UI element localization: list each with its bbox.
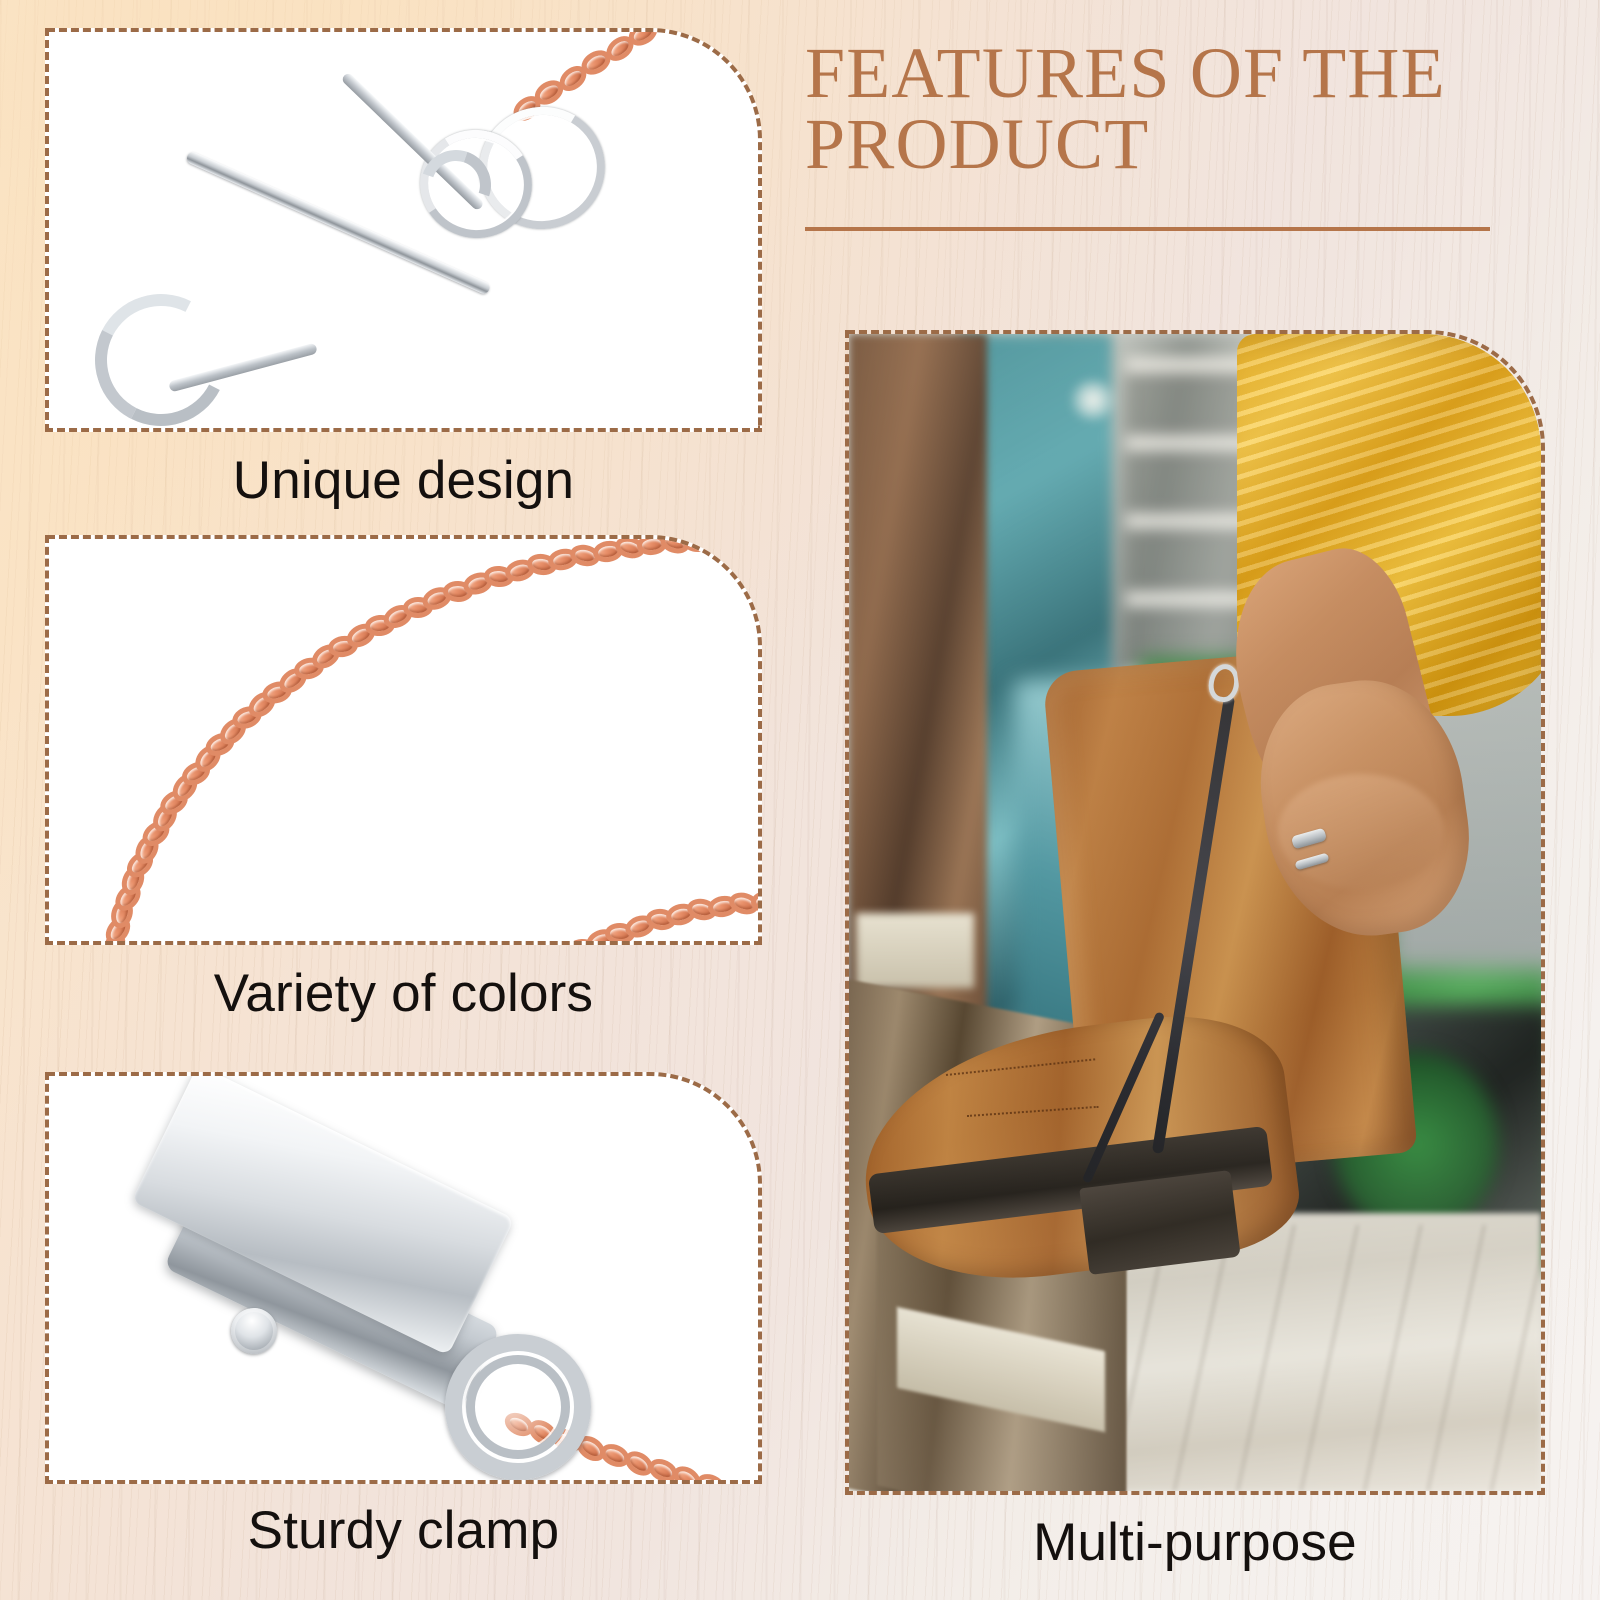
feature-panel-multi-purpose[interactable] xyxy=(845,330,1545,1495)
rose-gold-chain-illustration xyxy=(49,539,758,941)
hook-j-curve xyxy=(78,277,244,432)
feature-caption-unique-design: Unique design xyxy=(45,450,762,511)
lifestyle-photo xyxy=(849,334,1541,1491)
feature-caption-variety-of-colors: Variety of colors xyxy=(45,963,762,1024)
boot-heel xyxy=(1080,1170,1242,1275)
feature-panel-sturdy-clamp[interactable] xyxy=(45,1072,762,1484)
chain-link xyxy=(545,942,581,945)
chain-curve-upper xyxy=(49,539,758,941)
feature-panel-unique-design[interactable] xyxy=(45,28,762,432)
photo-post-paint-band xyxy=(856,913,974,988)
feature-panel-variety-of-colors[interactable] xyxy=(45,535,762,945)
title-divider xyxy=(805,227,1490,231)
clamp-split-ring-inner xyxy=(466,1355,570,1459)
page-title: FEATURES OF THE PRODUCT xyxy=(805,38,1505,181)
header: FEATURES OF THE PRODUCT xyxy=(805,38,1505,231)
hand-knuckles xyxy=(1278,774,1444,890)
feature-caption-sturdy-clamp: Sturdy clamp xyxy=(45,1500,762,1561)
feature-caption-multi-purpose: Multi-purpose xyxy=(845,1512,1545,1573)
